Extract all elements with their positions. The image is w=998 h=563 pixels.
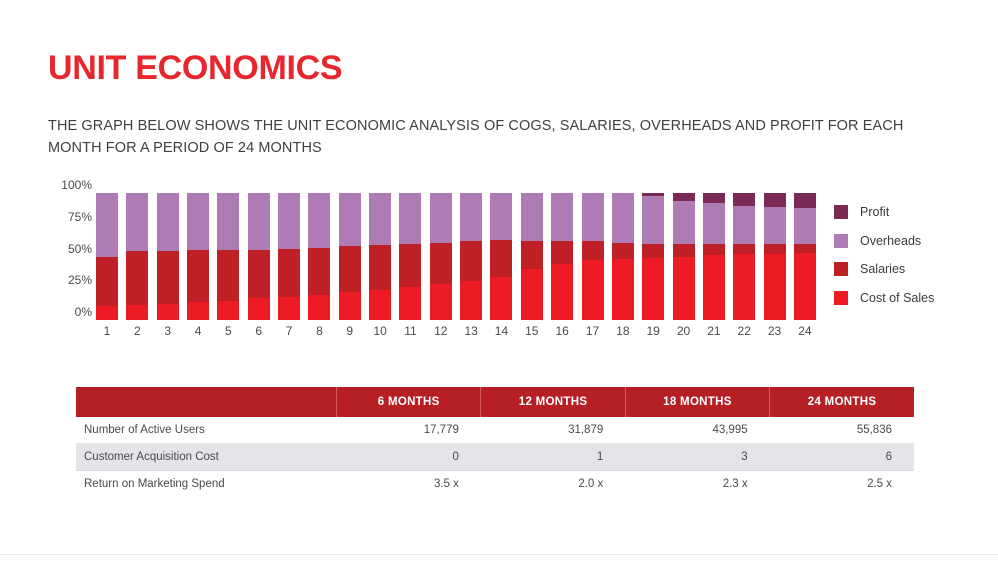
chart-bar-segment [673, 244, 695, 257]
chart-bar-segment [460, 241, 482, 280]
table-header-cell: 6 MONTHS [337, 387, 481, 417]
chart-bar[interactable] [551, 193, 573, 320]
table-header-blank [76, 387, 337, 417]
legend-swatch-icon [834, 234, 848, 248]
table-header-cell: 12 MONTHS [481, 387, 625, 417]
x-axis-tick: 18 [612, 324, 634, 338]
metrics-table-body: Number of Active Users17,77931,87943,995… [76, 417, 914, 497]
chart-bar-segment [126, 305, 148, 320]
chart-bar[interactable] [703, 193, 725, 320]
chart-bar[interactable] [157, 193, 179, 320]
table-cell-value: 0 [337, 444, 481, 471]
metrics-table-wrap: 6 MONTHS12 MONTHS18 MONTHS24 MONTHS Numb… [76, 387, 914, 497]
x-axis-tick: 13 [460, 324, 482, 338]
chart-bar-segment [96, 257, 118, 307]
chart-bar-segment [612, 193, 634, 243]
chart-bar-segment [521, 241, 543, 269]
bottom-divider [0, 554, 998, 555]
chart-bar-segment [521, 269, 543, 320]
chart-bar-segment [430, 243, 452, 285]
table-cell-value: 55,836 [770, 417, 914, 444]
legend-swatch-icon [834, 291, 848, 305]
legend-label: Profit [860, 205, 889, 219]
chart-bar-segment [764, 207, 786, 244]
chart-bar-segment [369, 193, 391, 245]
chart-bar-segment [490, 240, 512, 277]
chart-bar-segment [217, 301, 239, 320]
chart-bar[interactable] [308, 193, 330, 320]
legend-item[interactable]: Overheads [834, 227, 984, 256]
chart-bar-segment [460, 281, 482, 320]
x-axis-tick: 8 [308, 324, 330, 338]
chart-bar-segment [278, 249, 300, 297]
chart-bar-segment [126, 251, 148, 304]
chart-bar-segment [733, 193, 755, 206]
table-row-label: Return on Marketing Spend [76, 471, 337, 498]
chart-bar[interactable] [217, 193, 239, 320]
legend-swatch-icon [834, 262, 848, 276]
metrics-table: 6 MONTHS12 MONTHS18 MONTHS24 MONTHS Numb… [76, 387, 914, 497]
chart-bar-segment [187, 193, 209, 250]
x-axis-tick: 12 [430, 324, 452, 338]
chart-bar-segment [733, 206, 755, 244]
chart-bar-segment [642, 244, 664, 258]
chart-bar-segment [157, 251, 179, 303]
chart-bar[interactable] [642, 193, 664, 320]
chart-bar-segment [369, 290, 391, 320]
table-row-label: Customer Acquisition Cost [76, 444, 337, 471]
chart-bar-segment [339, 292, 361, 320]
chart-bar-segment [794, 244, 816, 253]
legend-label: Cost of Sales [860, 291, 934, 305]
table-row: Customer Acquisition Cost0136 [76, 444, 914, 471]
table-header-row: 6 MONTHS12 MONTHS18 MONTHS24 MONTHS [76, 387, 914, 417]
chart-bar[interactable] [521, 193, 543, 320]
chart-bar-segment [217, 250, 239, 301]
chart-y-axis: 0%25%50%75%100% [48, 185, 92, 320]
page-subtitle: THE GRAPH BELOW SHOWS THE UNIT ECONOMIC … [48, 115, 928, 160]
legend-item[interactable]: Salaries [834, 255, 984, 284]
x-axis-tick: 23 [764, 324, 786, 338]
unit-economics-chart: 0%25%50%75%100% 123456789101112131415161… [48, 185, 948, 355]
y-axis-tick: 50% [68, 242, 92, 256]
x-axis-tick: 5 [217, 324, 239, 338]
chart-bar-segment [673, 257, 695, 321]
x-axis-tick: 22 [733, 324, 755, 338]
x-axis-tick: 7 [278, 324, 300, 338]
chart-bar-segment [96, 306, 118, 320]
chart-bar-segment [369, 245, 391, 289]
table-row-label: Number of Active Users [76, 417, 337, 444]
chart-bar[interactable] [612, 193, 634, 320]
x-axis-tick: 3 [157, 324, 179, 338]
x-axis-tick: 6 [248, 324, 270, 338]
metrics-table-head: 6 MONTHS12 MONTHS18 MONTHS24 MONTHS [76, 387, 914, 417]
chart-plot-area [96, 193, 816, 320]
chart-bar-segment [430, 284, 452, 320]
chart-bar-segment [157, 193, 179, 251]
chart-bar-segment [490, 193, 512, 240]
table-cell-value: 2.3 x [625, 471, 769, 498]
chart-bar[interactable] [126, 193, 148, 320]
chart-bar-segment [521, 193, 543, 241]
table-header-cell: 18 MONTHS [625, 387, 769, 417]
x-axis-tick: 10 [369, 324, 391, 338]
x-axis-tick: 20 [673, 324, 695, 338]
table-cell-value: 43,995 [625, 417, 769, 444]
chart-bar-segment [794, 253, 816, 320]
chart-bar-segment [764, 244, 786, 254]
chart-bar-segment [703, 244, 725, 255]
chart-bar[interactable] [187, 193, 209, 320]
chart-bar[interactable] [582, 193, 604, 320]
chart-bar-segment [733, 254, 755, 320]
chart-bar[interactable] [460, 193, 482, 320]
y-axis-tick: 0% [75, 305, 92, 319]
chart-bar[interactable] [673, 193, 695, 320]
y-axis-tick: 25% [68, 273, 92, 287]
chart-bar[interactable] [248, 193, 270, 320]
chart-bar[interactable] [278, 193, 300, 320]
chart-bar[interactable] [399, 193, 421, 320]
chart-bar-segment [339, 193, 361, 246]
chart-bar[interactable] [490, 193, 512, 320]
chart-bar[interactable] [733, 193, 755, 320]
table-row: Number of Active Users17,77931,87943,995… [76, 417, 914, 444]
chart-bar-segment [308, 248, 330, 295]
chart-bar[interactable] [794, 193, 816, 320]
x-axis-tick: 16 [551, 324, 573, 338]
chart-bar-segment [308, 193, 330, 248]
page-title: UNIT ECONOMICS [48, 50, 342, 87]
chart-bar[interactable] [764, 193, 786, 320]
chart-bar-segment [308, 295, 330, 320]
chart-bar-segment [248, 298, 270, 320]
chart-bar-segment [96, 193, 118, 257]
chart-bar-segment [278, 297, 300, 320]
chart-bar-segment [460, 193, 482, 241]
table-cell-value: 6 [770, 444, 914, 471]
x-axis-tick: 15 [521, 324, 543, 338]
chart-bar-segment [703, 203, 725, 244]
chart-bar-segment [399, 193, 421, 244]
chart-bar-segment [764, 193, 786, 207]
chart-bar-segment [612, 243, 634, 260]
chart-x-axis: 123456789101112131415161718192021222324 [96, 324, 816, 338]
x-axis-tick: 17 [582, 324, 604, 338]
x-axis-tick: 11 [399, 324, 421, 338]
table-row: Return on Marketing Spend3.5 x2.0 x2.3 x… [76, 471, 914, 498]
chart-bar-segment [248, 250, 270, 298]
chart-bar[interactable] [96, 193, 118, 320]
chart-bar-segment [399, 287, 421, 320]
legend-swatch-icon [834, 205, 848, 219]
chart-bar-segment [794, 193, 816, 208]
chart-bar-segment [339, 246, 361, 292]
chart-bar-segment [187, 302, 209, 320]
y-axis-tick: 100% [61, 178, 92, 192]
chart-bar[interactable] [430, 193, 452, 320]
chart-bar-segment [217, 193, 239, 250]
chart-bar-segment [582, 193, 604, 241]
chart-bar[interactable] [369, 193, 391, 320]
chart-bar-segment [673, 201, 695, 244]
chart-bar-segment [490, 277, 512, 320]
x-axis-tick: 1 [96, 324, 118, 338]
y-axis-tick: 75% [68, 210, 92, 224]
chart-bar-segment [582, 241, 604, 260]
table-cell-value: 17,779 [337, 417, 481, 444]
chart-bar-segment [703, 193, 725, 203]
chart-bar-segment [794, 208, 816, 244]
chart-bar[interactable] [339, 193, 361, 320]
legend-item[interactable]: Profit [834, 198, 984, 227]
chart-bar-segment [551, 193, 573, 241]
table-cell-value: 3.5 x [337, 471, 481, 498]
chart-bar-segment [399, 244, 421, 287]
table-cell-value: 2.0 x [481, 471, 625, 498]
table-header-cell: 24 MONTHS [770, 387, 914, 417]
chart-bar-segment [430, 193, 452, 243]
chart-bar-segment [187, 250, 209, 302]
chart-bar-segment [278, 193, 300, 249]
x-axis-tick: 21 [703, 324, 725, 338]
chart-bar-segment [248, 193, 270, 250]
x-axis-tick: 14 [490, 324, 512, 338]
chart-bar-segment [764, 254, 786, 320]
table-cell-value: 3 [625, 444, 769, 471]
x-axis-tick: 19 [642, 324, 664, 338]
legend-item[interactable]: Cost of Sales [834, 284, 984, 313]
chart-bar-segment [733, 244, 755, 254]
legend-label: Overheads [860, 234, 921, 248]
chart-bar-segment [703, 255, 725, 320]
chart-bar-segment [551, 264, 573, 320]
chart-legend: ProfitOverheadsSalariesCost of Sales [834, 198, 984, 312]
x-axis-tick: 24 [794, 324, 816, 338]
chart-bar-segment [551, 241, 573, 264]
chart-bar-segment [126, 193, 148, 251]
chart-bar-segment [612, 259, 634, 320]
chart-bar-segment [157, 304, 179, 321]
chart-bar-segment [582, 260, 604, 320]
x-axis-tick: 9 [339, 324, 361, 338]
table-cell-value: 2.5 x [770, 471, 914, 498]
chart-bar-segment [673, 193, 695, 201]
table-cell-value: 31,879 [481, 417, 625, 444]
table-cell-value: 1 [481, 444, 625, 471]
x-axis-tick: 4 [187, 324, 209, 338]
x-axis-tick: 2 [126, 324, 148, 338]
legend-label: Salaries [860, 262, 905, 276]
chart-bar-segment [642, 196, 664, 244]
chart-bar-segment [642, 258, 664, 320]
